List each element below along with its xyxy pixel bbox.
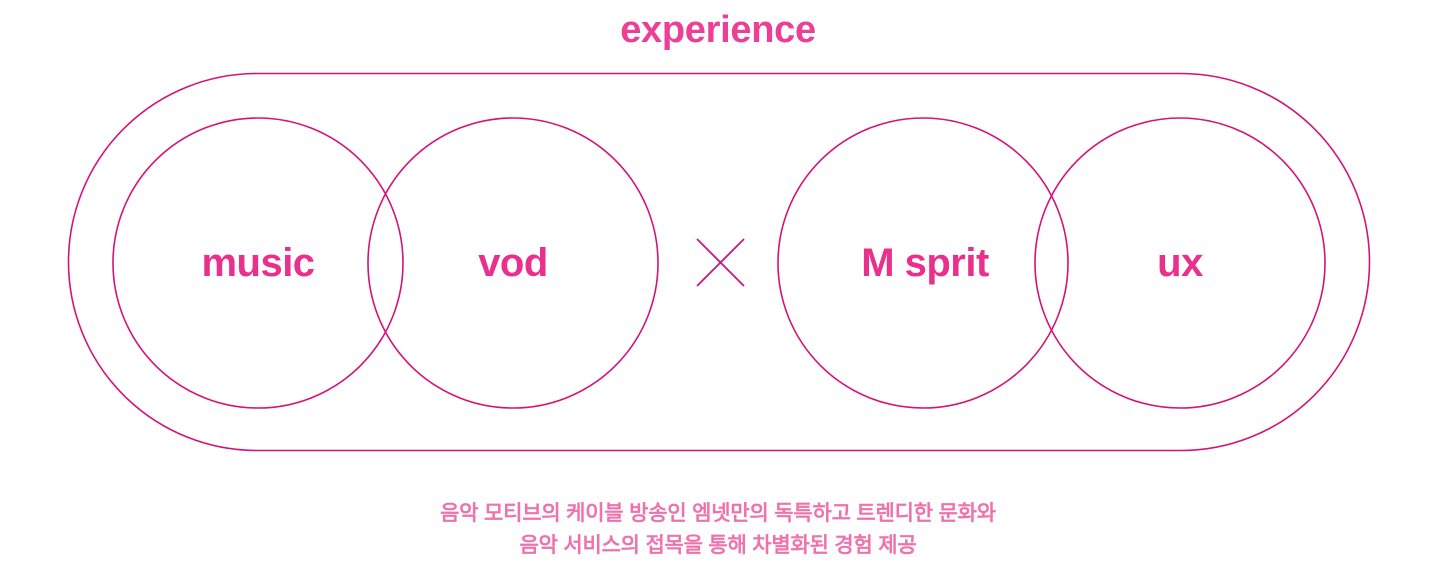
caption-line-2: 음악 서비스의 접목을 통해 차별화된 경험 제공 <box>0 530 1436 562</box>
circle-vod-label: vod <box>478 243 548 283</box>
diagram-caption: 음악 모티브의 케이블 방송인 엠넷만의 독특하고 트렌디한 문화와 음악 서비… <box>0 498 1436 562</box>
circle-m-sprit-label: M sprit <box>861 243 989 283</box>
caption-line-1: 음악 모티브의 케이블 방송인 엠넷만의 독특하고 트렌디한 문화와 <box>0 498 1436 530</box>
circle-ux-label: ux <box>1157 243 1203 283</box>
multiplication-cross-icon <box>697 239 744 286</box>
venn-diagram-graphic <box>0 0 1436 480</box>
diagram-canvas: experience music vod M sprit ux 음악 모티브의 … <box>0 0 1436 567</box>
circle-music-label: music <box>201 243 314 283</box>
